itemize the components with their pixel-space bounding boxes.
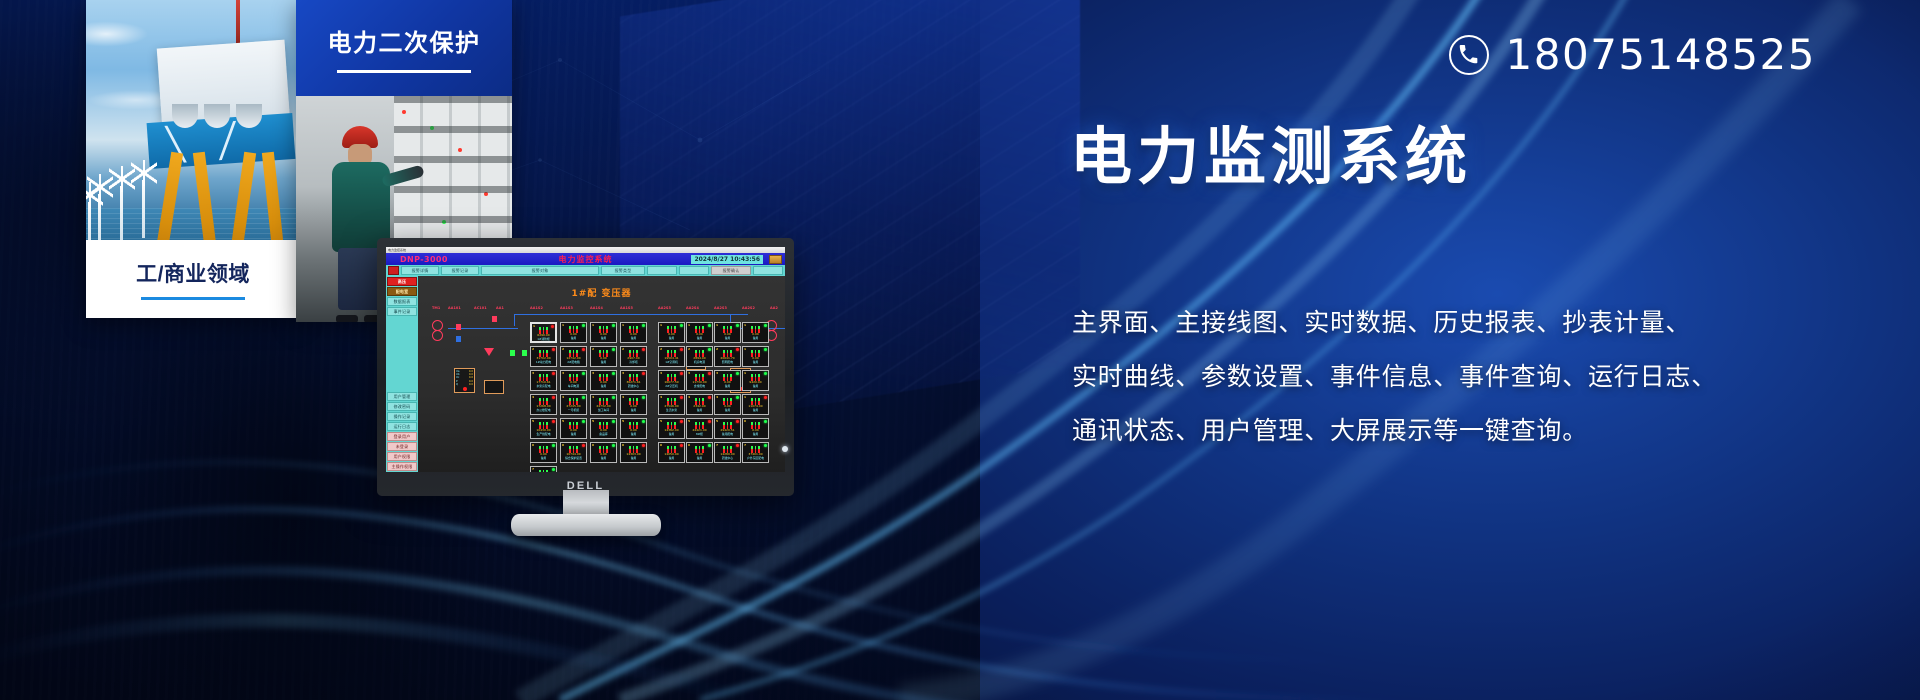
cell-number: 2 bbox=[716, 347, 718, 351]
phone-number-text: 18075148525 bbox=[1506, 30, 1816, 79]
cell-status-dot bbox=[552, 468, 555, 471]
cell-name: 备用 bbox=[571, 337, 577, 340]
diagram-title: 1#配 变压器 bbox=[418, 286, 785, 299]
feeder-cell[interactable]: 10.00备用 bbox=[620, 322, 647, 343]
cell-name: 户外东区配电 bbox=[747, 457, 764, 460]
feeder-label-aa1s4: AA1S4 bbox=[590, 306, 603, 310]
feeder-label-ac101: AC101 bbox=[474, 306, 487, 310]
cell-status-dot bbox=[680, 420, 683, 423]
cell-status-dot bbox=[764, 444, 767, 447]
feeder-cell[interactable]: 50.00备用 bbox=[620, 418, 647, 439]
cell-name: 备品库 bbox=[599, 433, 607, 436]
sidebar-item-user-permission[interactable]: 用户权限 bbox=[387, 452, 417, 461]
feeder-cell[interactable]: 10.00备用 bbox=[742, 322, 769, 343]
feeder-cell[interactable]: 30.00备用 bbox=[714, 370, 741, 391]
caption-underline-protection bbox=[337, 70, 471, 73]
cell-number: 6 bbox=[592, 443, 594, 447]
cell-name: 备用 bbox=[631, 457, 637, 460]
busbar-right bbox=[614, 314, 748, 315]
cell-status-dot bbox=[582, 444, 585, 447]
cell-number: 2 bbox=[660, 347, 662, 351]
switch-symbol-left bbox=[456, 336, 461, 342]
cell-status-dot bbox=[680, 372, 683, 375]
cell-number: 1 bbox=[744, 347, 746, 351]
sidebar-item-login-user[interactable]: 登录用户 bbox=[387, 432, 417, 441]
cell-number: 5 bbox=[532, 419, 534, 423]
cell-status-dot bbox=[612, 396, 615, 399]
scada-window-title: 电力监控系统 bbox=[388, 248, 406, 252]
breaker-symbol-left-2 bbox=[492, 316, 497, 322]
scada-toolbar: 报警详情 报警记录 报警对象 报警类型 报警确认 bbox=[386, 265, 785, 276]
feeder-cell[interactable]: 714280.00研发中心 bbox=[714, 442, 741, 463]
cell-number: 5 bbox=[622, 419, 624, 423]
cell-name: 加工车间 bbox=[598, 409, 609, 412]
description-line-1: 主界面、主接线图、实时数据、历史报表、抄表计量、 bbox=[1072, 296, 1852, 350]
sidebar-item-distribution-room[interactable]: 配电室 bbox=[387, 287, 417, 296]
feeder-cell[interactable]: 60.00备用 bbox=[686, 442, 713, 463]
cell-status-dot bbox=[680, 324, 683, 327]
cell-number: 7 bbox=[716, 443, 718, 447]
cell-number: 2 bbox=[562, 347, 564, 351]
cell-status-dot bbox=[642, 444, 645, 447]
feeder-cell[interactable]: 231702.001#动力配电 bbox=[530, 346, 557, 367]
cell-name: 研发中心 bbox=[628, 385, 639, 388]
cell-status-dot bbox=[736, 372, 739, 375]
feeder-cell[interactable]: 60.00备用 bbox=[590, 442, 617, 463]
feeder-label-aa2s2: AA2S2 bbox=[742, 306, 755, 310]
cell-name: 8#柜 bbox=[696, 433, 703, 436]
auxiliary-box-left[interactable] bbox=[484, 380, 504, 394]
cell-status-dot bbox=[642, 348, 645, 351]
feeder-cell[interactable]: 60.00备用 bbox=[530, 442, 557, 463]
cell-name: 备用 bbox=[725, 409, 731, 412]
feeder-cell[interactable]: 10.00备用 bbox=[742, 346, 769, 367]
feeder-cell[interactable]: 427245.00一号机组 bbox=[560, 394, 587, 415]
sidebar-item-high-voltage[interactable]: 高压 bbox=[387, 277, 417, 286]
cell-number: 1 bbox=[660, 323, 662, 327]
feeder-cell[interactable]: 427546.00生活水泵 bbox=[658, 394, 685, 415]
feeder-cell[interactable]: 336271.61研发中心 bbox=[620, 370, 647, 391]
feeder-cell[interactable]: 10.00备用 bbox=[686, 322, 713, 343]
cell-status-dot bbox=[642, 324, 645, 327]
feeder-cell[interactable]: 19420.00备用 bbox=[742, 370, 769, 391]
feeder-cell[interactable]: 610744.00综合保护装置 bbox=[560, 442, 587, 463]
feeder-label-aa2s5: AA2S5 bbox=[658, 306, 671, 310]
feeder-cell[interactable]: 10.00备用 bbox=[658, 322, 685, 343]
feeder-label-aa101: AA101 bbox=[448, 306, 461, 310]
feeder-cell[interactable]: 424732.00加工车间 bbox=[590, 394, 617, 415]
cell-number: 1 bbox=[688, 323, 690, 327]
alarm-indicator-icon[interactable] bbox=[388, 266, 399, 275]
cell-number: 3 bbox=[660, 371, 662, 375]
scada-body: 高压 配电室 数据报表 事件记录 用户管理 修改密码 操作记录 运行日志 登录用… bbox=[386, 276, 785, 472]
feeder-cell[interactable]: 529420.51备用配电 bbox=[714, 418, 741, 439]
cell-name: 办公楼配电 bbox=[537, 409, 551, 412]
feeder-label-aa1s5: AA1S5 bbox=[620, 306, 633, 310]
feeder-cell[interactable]: 316077.592#空压机 bbox=[658, 370, 685, 391]
cell-status-dot bbox=[642, 372, 645, 375]
feeder-cell[interactable]: 16290.001#消防柜 bbox=[530, 322, 557, 343]
cell-status-dot bbox=[582, 348, 585, 351]
toolbar-alarm-confirm[interactable]: 报警确认 bbox=[711, 266, 751, 275]
cell-number: 1 bbox=[716, 323, 718, 327]
monitor-stand-base bbox=[511, 514, 661, 536]
cell-name: 备用 bbox=[697, 337, 703, 340]
cell-name: 备用 bbox=[571, 433, 577, 436]
cell-number: 2 bbox=[592, 347, 594, 351]
cell-status-dot bbox=[708, 324, 711, 327]
cell-status-dot bbox=[736, 444, 739, 447]
cell-status-dot bbox=[708, 444, 711, 447]
feeder-cell[interactable]: 614303.00备用 bbox=[620, 442, 647, 463]
feeder-label-aa2s3: AA2S3 bbox=[714, 306, 727, 310]
feeder-cell[interactable]: 70.00照明 bbox=[530, 466, 557, 472]
feeder-cell[interactable]: 317710.61水泵房配电 bbox=[530, 370, 557, 391]
cell-status-dot bbox=[764, 324, 767, 327]
feeder-cell[interactable]: 737401.00户外东区配电 bbox=[742, 442, 769, 463]
transformer-symbol-left-2 bbox=[432, 330, 443, 341]
cell-status-dot bbox=[736, 420, 739, 423]
feature-card-industrial[interactable]: 工/商业领域 bbox=[86, 0, 300, 318]
cell-number: 1 bbox=[622, 323, 624, 327]
cell-status-dot bbox=[642, 396, 645, 399]
cell-status-dot bbox=[708, 348, 711, 351]
cell-status-dot bbox=[612, 324, 615, 327]
cell-name: 备用 bbox=[753, 385, 759, 388]
cell-status-dot bbox=[582, 372, 585, 375]
cell-status-dot bbox=[551, 325, 554, 328]
sidebar-item-data-report[interactable]: 数据报表 bbox=[387, 297, 417, 306]
cell-status-dot bbox=[612, 348, 615, 351]
feeder-cell[interactable]: 10.00备用 bbox=[560, 322, 587, 343]
cell-name: 1#消防柜 bbox=[537, 338, 550, 341]
sidebar-item-event-record[interactable]: 事件记录 bbox=[387, 307, 417, 316]
toolbar-alarm-object[interactable]: 报警对象 bbox=[481, 266, 599, 275]
cell-status-dot bbox=[582, 324, 585, 327]
cell-name: 照明配电 bbox=[722, 361, 733, 364]
feeder-cell[interactable]: 10.00备用 bbox=[714, 322, 741, 343]
cell-status-dot bbox=[680, 444, 683, 447]
cell-name: 备用 bbox=[669, 457, 675, 460]
cell-status-dot bbox=[612, 444, 615, 447]
cell-number: 4 bbox=[622, 395, 624, 399]
page-title: 电力监测系统 bbox=[1070, 106, 1472, 196]
toolbar-slot-5[interactable] bbox=[647, 266, 677, 275]
cell-number: 5 bbox=[716, 419, 718, 423]
contact-phone[interactable]: 18075148525 bbox=[1449, 30, 1816, 79]
feeder-cell[interactable]: 30.00车间电源 bbox=[560, 370, 587, 391]
toolbar-alarm-type[interactable]: 报警类型 bbox=[601, 266, 645, 275]
feeder-cell[interactable]: 50.00备品库 bbox=[590, 418, 617, 439]
cell-number: 3 bbox=[592, 371, 594, 375]
description-line-2: 实时曲线、参数设置、事件信息、事件查询、运行日志、 bbox=[1072, 350, 1852, 404]
cell-status-dot bbox=[642, 420, 645, 423]
cell-number: 1 bbox=[533, 324, 535, 328]
cell-status-dot bbox=[552, 348, 555, 351]
cell-name: 备用 bbox=[541, 457, 547, 460]
cell-phase-bars bbox=[539, 470, 548, 473]
cell-name: 1#空调机 bbox=[665, 361, 678, 364]
cell-status-dot bbox=[612, 420, 615, 423]
cell-number: 4 bbox=[716, 395, 718, 399]
cell-name: 水泵房配电 bbox=[537, 385, 551, 388]
cell-name: 综合保护装置 bbox=[565, 457, 582, 460]
feeder-cell[interactable]: 311730.00食堂配电 bbox=[686, 370, 713, 391]
cell-name: 备用 bbox=[753, 409, 759, 412]
cell-number: 7 bbox=[532, 467, 534, 471]
toolbar-slot-8[interactable] bbox=[753, 266, 783, 275]
cell-name: 生产线配电 bbox=[537, 433, 551, 436]
operator-shoe-left bbox=[336, 315, 358, 322]
feeder-label-aa1s2: AA1S2 bbox=[530, 306, 543, 310]
cell-status-dot bbox=[736, 396, 739, 399]
bus-drop-1 bbox=[514, 314, 515, 326]
earthing-symbol-left bbox=[484, 348, 494, 356]
cell-number: 3 bbox=[562, 371, 564, 375]
description-line-3: 通讯状态、用户管理、大屏展示等一键查询。 bbox=[1072, 404, 1852, 458]
scada-clock: 2024/8/27 10:43:56 bbox=[691, 255, 763, 264]
cell-name: 研发中心 bbox=[722, 457, 733, 460]
feeder-cell[interactable]: 614050.00备用 bbox=[658, 442, 685, 463]
cell-name: 冷却塔 bbox=[629, 361, 637, 364]
toolbar-slot-6[interactable] bbox=[679, 266, 709, 275]
cell-name: 生活水泵 bbox=[666, 409, 677, 412]
cell-name: 备用 bbox=[725, 385, 731, 388]
cell-status-dot bbox=[708, 420, 711, 423]
cell-name: 备用 bbox=[753, 433, 759, 436]
cell-status-dot bbox=[582, 396, 585, 399]
feeder-cell[interactable]: 60.00备用 bbox=[742, 418, 769, 439]
caption-text-industrial: 工/商业领域 bbox=[136, 258, 250, 288]
feeder-cell[interactable]: 22907.00冷却塔 bbox=[620, 346, 647, 367]
cell-name: 2#配电箱 bbox=[567, 361, 580, 364]
cell-status-dot bbox=[736, 324, 739, 327]
feeder-cell[interactable]: 50.00备用 bbox=[560, 418, 587, 439]
cell-number: 6 bbox=[562, 443, 564, 447]
cell-status-dot bbox=[736, 348, 739, 351]
cell-name: 车间电源 bbox=[568, 385, 579, 388]
cell-name: 备用 bbox=[725, 337, 731, 340]
feeder-cell[interactable]: 22894.00机房电源 bbox=[686, 346, 713, 367]
cell-number: 3 bbox=[688, 371, 690, 375]
cell-number: 6 bbox=[660, 443, 662, 447]
cell-number: 6 bbox=[622, 443, 624, 447]
cell-name: 2#空压机 bbox=[665, 385, 678, 388]
cell-name: 一号机组 bbox=[568, 409, 579, 412]
indicator-green-left-2 bbox=[522, 350, 527, 356]
cell-number: 1 bbox=[744, 371, 746, 375]
feeder-label-aa1: AA1 bbox=[496, 306, 504, 310]
cell-number: 3 bbox=[622, 371, 624, 375]
cell-name: 备用配电 bbox=[722, 433, 733, 436]
cell-status-dot bbox=[680, 396, 683, 399]
cell-number: 1 bbox=[592, 323, 594, 327]
cell-status-dot bbox=[764, 396, 767, 399]
cell-number: 2 bbox=[688, 347, 690, 351]
cell-name: 备用 bbox=[697, 409, 703, 412]
feeder-cell[interactable]: 10.00备用 bbox=[590, 322, 617, 343]
cell-status-dot bbox=[708, 372, 711, 375]
cell-status-dot bbox=[552, 420, 555, 423]
cell-status-dot bbox=[612, 372, 615, 375]
dell-monitor: 电力监控系统 DNP-3000 电力监控系统 2024/8/27 10:43:5… bbox=[377, 238, 794, 538]
cell-number: 5 bbox=[592, 419, 594, 423]
cell-name: 食堂配电 bbox=[694, 385, 705, 388]
cell-number: 4 bbox=[562, 395, 564, 399]
banner-stage: 工/商业领域 电力二次保护 bbox=[0, 0, 1920, 700]
cell-status-dot bbox=[708, 396, 711, 399]
feeder-label-tm1: TM1 bbox=[432, 306, 440, 310]
scada-app-icon[interactable] bbox=[769, 255, 782, 264]
feeder-cell[interactable]: 510430.00生产线配电 bbox=[530, 418, 557, 439]
caption-text-protection: 电力二次保护 bbox=[328, 23, 481, 58]
measurement-box-left[interactable]: Ua0.0 Ub0.0 Uc0.0 P0.0 Q0.0 bbox=[454, 368, 475, 393]
toolbar-alarm-detail[interactable]: 报警详情 bbox=[401, 266, 439, 275]
scada-header: DNP-3000 电力监控系统 2024/8/27 10:43:56 bbox=[386, 253, 785, 265]
monitor-power-led[interactable] bbox=[782, 446, 788, 452]
cell-name: 备用 bbox=[601, 337, 607, 340]
scada-screen[interactable]: 电力监控系统 DNP-3000 电力监控系统 2024/8/27 10:43:5… bbox=[386, 247, 785, 472]
cell-name: 1#动力配电 bbox=[536, 361, 551, 364]
cell-status-dot bbox=[552, 372, 555, 375]
feeder-cell[interactable]: 220641.70照明配电 bbox=[714, 346, 741, 367]
sidebar-item-user-management[interactable]: 用户管理 bbox=[387, 392, 417, 401]
cell-name: 备用 bbox=[601, 457, 607, 460]
feeder-label-aa1s3: AA1S3 bbox=[560, 306, 573, 310]
phone-circle-icon bbox=[1449, 35, 1489, 75]
toolbar-alarm-record[interactable]: 报警记录 bbox=[441, 266, 479, 275]
sidebar-item-not-logged-in[interactable]: 未登录 bbox=[387, 442, 417, 451]
feeder-cell[interactable]: 40.00备用 bbox=[714, 394, 741, 415]
cell-name: 备用 bbox=[601, 385, 607, 388]
scada-sidebar: 高压 配电室 数据报表 事件记录 用户管理 修改密码 操作记录 运行日志 登录用… bbox=[386, 276, 418, 472]
cell-number: 4 bbox=[592, 395, 594, 399]
cell-status-dot bbox=[552, 444, 555, 447]
feeder-cell[interactable]: 20.00备用 bbox=[590, 346, 617, 367]
cell-name: 备用 bbox=[601, 361, 607, 364]
cell-number: 6 bbox=[688, 443, 690, 447]
cell-number: 4 bbox=[660, 395, 662, 399]
cell-name: 机房电源 bbox=[694, 361, 705, 364]
cell-number: 7 bbox=[744, 443, 746, 447]
cell-number: 5 bbox=[660, 419, 662, 423]
feeder-cell[interactable]: 30.00备用 bbox=[590, 370, 617, 391]
sidebar-item-run-log[interactable]: 运行日志 bbox=[387, 422, 417, 431]
cell-number: 1 bbox=[744, 323, 746, 327]
feeder-cell[interactable]: 111074.00备用 bbox=[742, 394, 769, 415]
feature-card-protection-header: 电力二次保护 bbox=[296, 0, 512, 96]
caption-underline-industrial bbox=[141, 297, 245, 300]
cell-status-dot bbox=[764, 372, 767, 375]
cell-name: 备用 bbox=[669, 433, 675, 436]
feeder-label-aa2s4: AA2S4 bbox=[686, 306, 699, 310]
cell-number: 4 bbox=[532, 395, 534, 399]
feature-card-industrial-caption: 工/商业领域 bbox=[86, 240, 300, 318]
cell-status-dot bbox=[680, 348, 683, 351]
cell-status-dot bbox=[764, 348, 767, 351]
cell-number: 6 bbox=[532, 443, 534, 447]
one-line-diagram-canvas[interactable]: 1#配 变压器 bbox=[418, 276, 785, 472]
feeder-cell[interactable]: 42342.00备用 bbox=[686, 394, 713, 415]
cell-number: 2 bbox=[532, 347, 534, 351]
cell-number: 4 bbox=[688, 395, 690, 399]
feeder-cell[interactable]: 514382.00备用 bbox=[658, 418, 685, 439]
cell-status-dot bbox=[764, 420, 767, 423]
cell-name: 备用 bbox=[753, 361, 759, 364]
feeder-cell[interactable]: 417268.00办公楼配电 bbox=[530, 394, 557, 415]
sidebar-item-operation-record[interactable]: 操作记录 bbox=[387, 412, 417, 421]
cell-number: 5 bbox=[688, 419, 690, 423]
cell-status-dot bbox=[582, 420, 585, 423]
cell-number: 1 bbox=[562, 323, 564, 327]
feeder-cell[interactable]: 40.00备用 bbox=[620, 394, 647, 415]
indicator-green-left-1 bbox=[510, 350, 515, 356]
cell-status-dot bbox=[552, 396, 555, 399]
sidebar-item-main-operation-permission[interactable]: 主操作权限 bbox=[387, 462, 417, 471]
cell-name: 备用 bbox=[753, 337, 759, 340]
cell-number: 6 bbox=[744, 419, 746, 423]
feeder-cell[interactable]: 219504.411#空调机 bbox=[658, 346, 685, 367]
cell-name: 备用 bbox=[631, 337, 637, 340]
sidebar-spacer bbox=[387, 317, 417, 391]
cell-name: 备用 bbox=[669, 337, 675, 340]
cell-name: 备用 bbox=[697, 457, 703, 460]
monitor-bezel: 电力监控系统 DNP-3000 电力监控系统 2024/8/27 10:43:5… bbox=[377, 238, 794, 496]
feeder-label-aa2: AA2 bbox=[770, 306, 778, 310]
sidebar-item-change-password[interactable]: 修改密码 bbox=[387, 402, 417, 411]
cell-number: 3 bbox=[532, 371, 534, 375]
cell-name: 备用 bbox=[631, 409, 637, 412]
breaker-symbol-left bbox=[456, 324, 461, 330]
feeder-cell[interactable]: 544421.008#柜 bbox=[686, 418, 713, 439]
cell-number: 3 bbox=[716, 371, 718, 375]
cell-number: 1 bbox=[744, 395, 746, 399]
cell-number: 5 bbox=[562, 419, 564, 423]
feeder-cell[interactable]: 212742.002#配电箱 bbox=[560, 346, 587, 367]
cell-number: 2 bbox=[622, 347, 624, 351]
feature-description: 主界面、主接线图、实时数据、历史报表、抄表计量、 实时曲线、参数设置、事件信息、… bbox=[1072, 296, 1852, 458]
cell-name: 备用 bbox=[631, 433, 637, 436]
